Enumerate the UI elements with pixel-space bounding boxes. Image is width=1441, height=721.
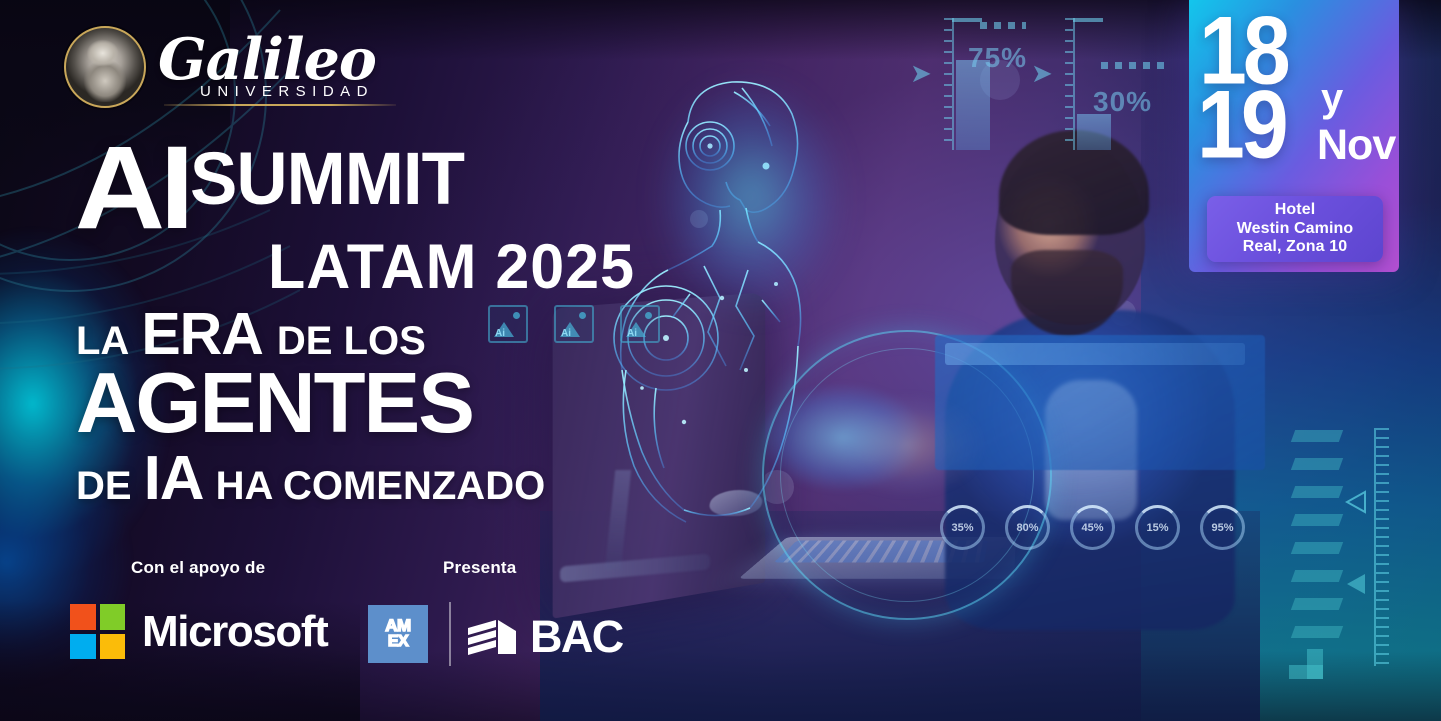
tagline-line-2: AGENTES [76,364,545,445]
galileo-portrait-icon [64,26,146,108]
ms-square-green [100,604,126,630]
sun-icon [579,312,586,319]
ruler-marker-up-icon [1345,490,1367,514]
image-placeholder-icon: Ai [554,305,594,343]
stair-bar [1291,570,1343,582]
circle-gauge-label: 80% [1016,522,1038,534]
circle-gauge-label: 15% [1146,522,1168,534]
tagline: LA ERA DE LOS AGENTES DE IA HA COMENZADO [76,300,545,514]
amex-logo[interactable]: AM EX [368,605,428,663]
gauge-dots [1101,62,1171,69]
stair-bar [1291,430,1343,442]
tagline-ha-comenzado: HA COMENZADO [216,464,546,509]
ms-square-yellow [100,634,126,660]
circle-gauge-label: 95% [1211,522,1233,534]
date-day-2: 19 [1197,86,1285,165]
microsoft-logo[interactable]: Microsoft [70,604,327,659]
microsoft-squares-icon [70,604,125,659]
logo-underline [164,104,396,106]
sponsor-logos: Microsoft AM EX BAC [0,602,640,682]
circle-gauge-label: 45% [1081,522,1103,534]
title-ai: AI [75,140,189,237]
gauge-label: 30% [1093,86,1152,118]
bac-logo[interactable]: BAC [466,611,623,663]
hud-ruler [1367,428,1383,666]
logo-name: Galileo [158,34,376,86]
circle-gauge: 80% [1005,505,1050,550]
gauge-bar [1077,114,1111,150]
portrait-face [77,36,133,102]
circle-gauge-label: 35% [951,522,973,534]
stair-bar [1291,458,1343,470]
circle-gauge: 95% [1200,505,1245,550]
bac-wordmark: BAC [530,611,623,663]
image-placeholder-icon: Ai [620,305,660,343]
gauge-arrow-icon: ➤ [1031,60,1053,86]
logo-wordmark: Galileo UNIVERSIDAD [158,34,376,99]
tagline-agentes: AGENTES [76,364,473,445]
circle-gauge: 45% [1070,505,1115,550]
gauge-ticks [1065,18,1073,150]
gauge-label: 75% [968,42,1027,74]
stair-bar [1291,598,1343,610]
stair-bar [1291,542,1343,554]
ruler-marker-down-icon [1345,572,1367,596]
event-title: AI SUMMIT LATAM 2025 [78,140,635,301]
venue-text: Hotel Westin Camino Real, Zona 10 [1237,201,1354,258]
circle-gauge-row: 35% 80% 45% 15% 95% [940,505,1245,550]
title-row-1: AI SUMMIT [78,140,635,237]
date-month: Nov [1317,124,1395,167]
gauge-cap [952,18,982,22]
tagline-ia: IA [144,443,204,514]
title-summit: SUMMIT [190,142,464,217]
stair-bar [1291,514,1343,526]
hud-panel-bar [945,343,1245,365]
date-panel: 18 y 19 Nov Hotel Westin Camino Real, Zo… [1189,0,1399,272]
venue-line-1: Hotel [1237,201,1354,220]
gauge-ticks [944,18,952,150]
presents-label: Presenta [443,558,516,578]
bac-house-icon [466,614,518,660]
galileo-logo[interactable]: Galileo UNIVERSIDAD [64,26,376,108]
tagline-line-3: DE IA HA COMENZADO [76,443,545,514]
corner-block-icon [1289,649,1323,679]
ruler-ticks [1376,428,1389,666]
sponsor-section: Con el apoyo de Presenta Microsoft AM EX [0,558,640,682]
title-latam-year: LATAM 2025 [268,229,635,302]
gauge-dots [980,22,1026,29]
event-banner: 35% 80% 45% 15% 95% Ai Ai Ai [0,0,1441,721]
gauge-axis [1073,18,1075,150]
microsoft-wordmark: Microsoft [142,607,327,657]
stair-bar [1291,486,1343,498]
date-numbers: 18 y 19 Nov [1189,0,1399,26]
circle-gauge: 35% [940,505,985,550]
date-conjunction: y [1321,78,1343,118]
gauge-cap [1073,18,1103,22]
sponsor-divider [449,602,451,666]
venue-line-2: Westin Camino [1237,220,1354,239]
vertical-gauge-75: 75% ➤ [952,18,1022,150]
ai-tag-label: Ai [627,328,637,339]
venue-badge[interactable]: Hotel Westin Camino Real, Zona 10 [1207,196,1383,262]
circle-gauge: 15% [1135,505,1180,550]
venue-line-3: Real, Zona 10 [1237,238,1354,257]
vertical-gauge-30: 30% ➤ [1073,18,1143,150]
amex-line-1: AM [385,618,410,634]
tagline-de: DE [76,464,132,509]
gauge-arrow-icon: ➤ [910,60,932,86]
sun-icon [645,312,652,319]
support-label: Con el apoyo de [131,558,265,578]
ai-tag-label: Ai [561,328,571,339]
ms-square-blue [70,634,96,660]
ms-square-red [70,604,96,630]
stair-bar [1291,626,1343,638]
amex-line-2: EX [388,634,408,649]
sponsor-labels: Con el apoyo de Presenta [0,558,640,582]
gauge-axis [952,18,954,150]
